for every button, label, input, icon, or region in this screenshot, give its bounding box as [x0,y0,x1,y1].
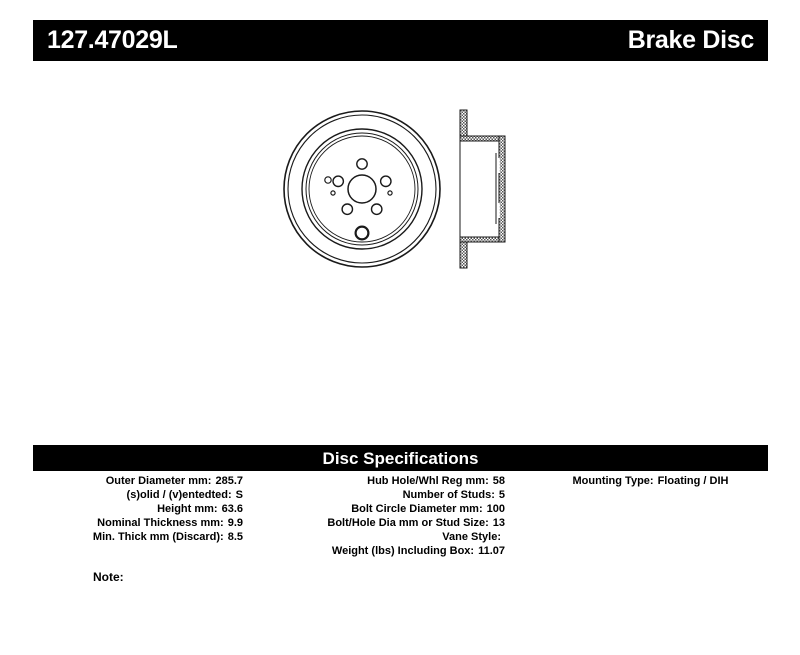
spec-label: Number of Studs: [403,488,495,502]
spec-row: Height mm: 63.6 [33,502,243,516]
spec-row: Nominal Thickness mm: 9.9 [33,516,243,530]
spec-row: Hub Hole/Whl Reg mm: 58 [255,474,505,488]
spec-value: Floating / DIH [658,474,729,488]
spec-value: 13 [493,516,505,530]
spec-row: Weight (lbs) Including Box: 11.07 [255,544,505,558]
spec-value: 8.5 [228,530,243,544]
spec-column-middle: Hub Hole/Whl Reg mm: 58 Number of Studs:… [255,474,505,558]
disc-specifications-banner: Disc Specifications [33,445,768,471]
spec-value: 63.6 [222,502,243,516]
specifications-body: Outer Diameter mm: 285.7 (s)olid / (v)en… [33,474,768,584]
spec-value: 100 [487,502,505,516]
spec-label: (s)olid / (v)entedted: [127,488,232,502]
spec-row: Outer Diameter mm: 285.7 [33,474,243,488]
product-type-title: Brake Disc [628,28,754,53]
spec-row: Number of Studs: 5 [255,488,505,502]
spec-value: 5 [499,488,505,502]
spec-label: Bolt Circle Diameter mm: [351,502,482,516]
spec-label: Mounting Type: [573,474,654,488]
product-illustration [280,98,530,283]
spec-column-right: Mounting Type: Floating / DIH [533,474,768,488]
spec-label: Outer Diameter mm: [106,474,212,488]
spec-row: Bolt/Hole Dia mm or Stud Size: 13 [255,516,505,530]
part-number: 127.47029L [47,28,177,53]
spec-label: Height mm: [157,502,218,516]
spec-row: Bolt Circle Diameter mm: 100 [255,502,505,516]
spec-value: 285.7 [215,474,243,488]
spec-row: Mounting Type: Floating / DIH [533,474,768,488]
spec-label: Weight (lbs) Including Box: [332,544,474,558]
spec-column-left: Outer Diameter mm: 285.7 (s)olid / (v)en… [33,474,243,544]
brake-disc-front-view [284,111,440,267]
spec-label: Nominal Thickness mm: [97,516,224,530]
note-label: Note: [93,570,124,584]
spec-label: Hub Hole/Whl Reg mm: [367,474,489,488]
spec-row: Min. Thick mm (Discard): 8.5 [33,530,243,544]
spec-value: 11.07 [478,544,505,558]
spec-value: S [236,488,243,502]
spec-row: (s)olid / (v)entedted: S [33,488,243,502]
spec-value: 58 [493,474,505,488]
disc-specifications-title: Disc Specifications [323,450,479,467]
header-bar: 127.47029L Brake Disc [33,20,768,61]
spec-row: Vane Style: [255,530,505,544]
note-row: Note: [33,570,433,584]
spec-value: 9.9 [228,516,243,530]
spec-label: Bolt/Hole Dia mm or Stud Size: [327,516,488,530]
spec-label: Min. Thick mm (Discard): [93,530,224,544]
spec-label: Vane Style: [442,530,501,544]
brake-disc-cross-section-view [460,110,505,268]
